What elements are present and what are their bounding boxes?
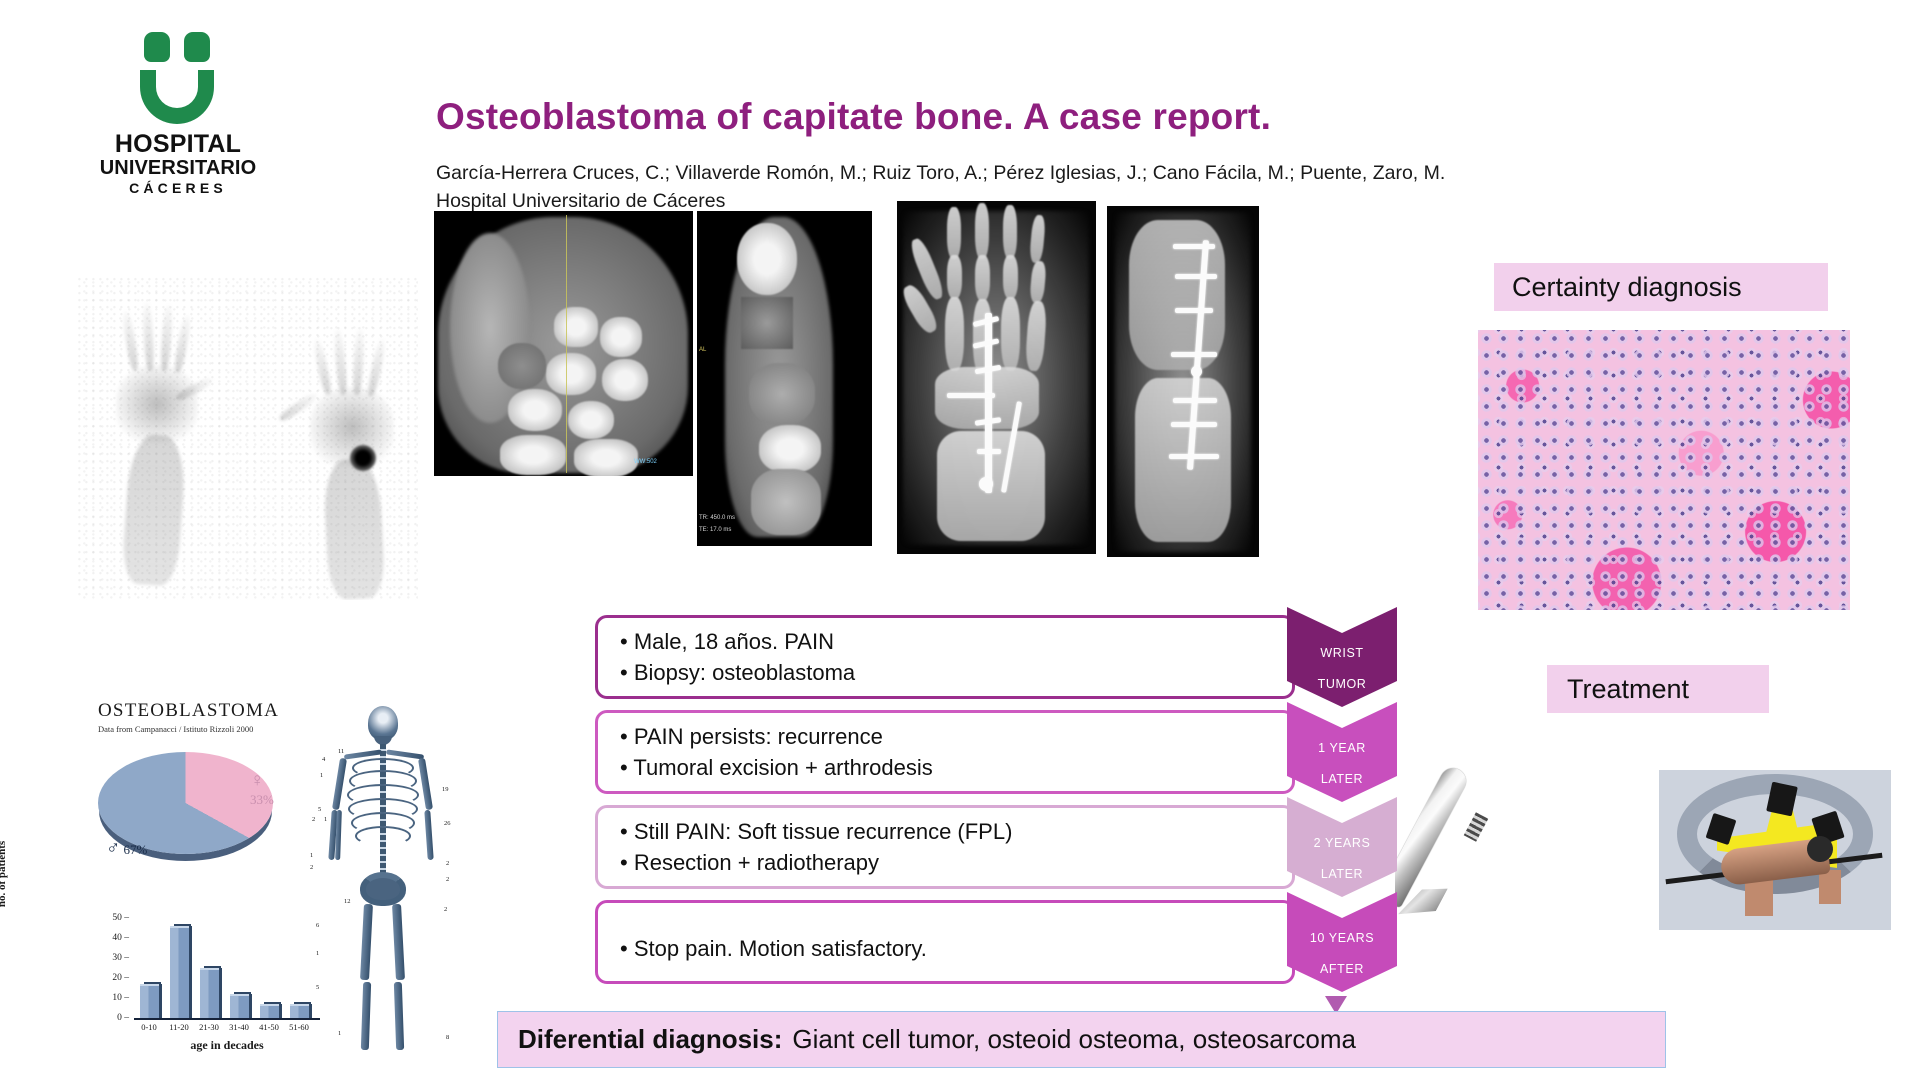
differential-diagnosis-label: Diferential diagnosis: xyxy=(518,1024,782,1055)
logo-dot-left-icon xyxy=(144,32,170,62)
timeline-row-2: • PAIN persists: recurrence • Tumoral ex… xyxy=(595,710,1405,794)
bar-chart-bar xyxy=(140,984,159,1018)
bar-chart-plot: 0 –10 –20 –30 –40 –50 – xyxy=(134,914,314,1018)
bar-chart-bar xyxy=(200,968,219,1018)
logo-u-shape-icon xyxy=(140,70,214,124)
bar-chart-xtick: 11-20 xyxy=(169,1022,189,1032)
timeline-marker-4-line2: AFTER xyxy=(1310,962,1374,978)
pie-value-male: 67% xyxy=(124,842,148,857)
bar-chart-xtick: 0-10 xyxy=(141,1022,157,1032)
scalpel-image xyxy=(1395,760,1560,940)
xray-ap-image xyxy=(897,201,1096,554)
bar-chart-bar xyxy=(170,926,189,1018)
bar-chart-ytick: 30 – xyxy=(112,953,134,963)
timeline-box-3[interactable]: • Still PAIN: Soft tissue recurrence (FP… xyxy=(595,805,1295,889)
authors-line: García-Herrera Cruces, C.; Villaverde Ro… xyxy=(436,160,1496,188)
radiotherapy-image xyxy=(1659,770,1891,930)
logo-line-hospital: HOSPITAL xyxy=(115,131,241,157)
xray-lateral-image xyxy=(1107,206,1259,557)
bar-chart-ylabel: no. of patients xyxy=(0,824,8,924)
mri-coronal-image: WW:502 xyxy=(434,211,693,476)
histology-cell-texture xyxy=(1478,330,1850,610)
certainty-diagnosis-label: Certainty diagnosis xyxy=(1494,263,1828,311)
bar-chart-ytick: 10 – xyxy=(112,993,134,1003)
bar-chart-ytick: 0 – xyxy=(117,1013,134,1023)
timeline-line-1b: • Biopsy: osteoblastoma xyxy=(620,657,1270,688)
timeline-row-1: • Male, 18 años. PAIN • Biopsy: osteobla… xyxy=(595,615,1405,699)
bar-chart-xtick: 21-30 xyxy=(199,1022,219,1032)
poster-canvas: HOSPITAL UNIVERSITARIO CÁCERES Osteoblas… xyxy=(0,0,1920,1080)
timeline-marker-1-line1: WRIST xyxy=(1318,646,1367,662)
timeline-marker-2-line1: 1 YEAR xyxy=(1318,741,1366,757)
pie-label-male: ♂ 67% xyxy=(106,838,147,860)
skeleton-diagram: 4 11 1 5 2 1 1 2 19 26 2 2 2 12 6 1 5 8 … xyxy=(300,700,460,1060)
timeline-line-2b: • Tumoral excision + arthrodesis xyxy=(620,752,1270,783)
hospital-logo: HOSPITAL UNIVERSITARIO CÁCERES xyxy=(88,32,268,197)
pie-chart-plot: ♂ 67% ♀ 33% xyxy=(98,752,278,862)
differential-diagnosis-items: Giant cell tumor, osteoid osteoma, osteo… xyxy=(792,1024,1356,1055)
mri-marker-tag: AL xyxy=(699,347,706,353)
timeline-box-4[interactable]: • Stop pain. Motion satisfactory. xyxy=(595,900,1295,984)
timeline-marker-4-line1: 10 YEARS xyxy=(1310,931,1374,947)
timeline-line-3a: • Still PAIN: Soft tissue recurrence (FP… xyxy=(620,816,1270,847)
timeline-marker-4: 10 YEARS AFTER xyxy=(1287,892,1397,992)
skull-icon xyxy=(368,706,398,740)
scalpel-handle-icon xyxy=(1395,764,1471,909)
timeline-marker-2: 1 YEAR LATER xyxy=(1287,702,1397,802)
timeline-box-1[interactable]: • Male, 18 años. PAIN • Biopsy: osteobla… xyxy=(595,615,1295,699)
logo-dot-right-icon xyxy=(184,32,210,62)
bar-chart-bar xyxy=(260,1004,279,1018)
timeline-line-4a: • Stop pain. Motion satisfactory. xyxy=(620,933,1270,964)
timeline-row-3: • Still PAIN: Soft tissue recurrence (FP… xyxy=(595,805,1405,889)
treatment-label: Treatment xyxy=(1547,665,1769,713)
smiley-u-logo-icon xyxy=(130,32,226,123)
bar-chart-ytick: 50 – xyxy=(112,913,134,923)
pie-value-female: 33% xyxy=(250,792,274,807)
pie-label-female: ♀ 33% xyxy=(250,770,278,808)
bar-chart-ytick: 40 – xyxy=(112,933,134,943)
bar-chart-bar xyxy=(230,994,249,1018)
timeline-marker-3-line1: 2 YEARS xyxy=(1314,836,1371,852)
timeline-row-4: • Stop pain. Motion satisfactory. 10 YEA… xyxy=(595,900,1405,984)
timeline-line-1a: • Male, 18 años. PAIN xyxy=(620,626,1270,657)
differential-diagnosis-bar: Diferential diagnosis: Giant cell tumor,… xyxy=(497,1011,1666,1068)
mri-sagittal-image: AL TR: 450.0 ms TE: 17.0 ms xyxy=(697,211,872,546)
mri-window-tag: WW:502 xyxy=(634,459,657,465)
age-distribution-bar-chart: no. of patients 0 –10 –20 –30 –40 –50 – … xyxy=(100,908,330,1058)
timeline-line-3b: • Resection + radiotherapy xyxy=(620,847,1270,878)
scalpel-grip-icon xyxy=(1464,812,1489,842)
logo-line-caceres: CÁCERES xyxy=(129,179,227,197)
timeline-marker-1: WRIST TUMOR xyxy=(1287,607,1397,707)
histology-image xyxy=(1478,330,1850,610)
bar-chart-xtick: 41-50 xyxy=(259,1022,279,1032)
bar-chart-xtick: 31-40 xyxy=(229,1022,249,1032)
bar-chart-xlabel: age in decades xyxy=(134,1038,320,1053)
timeline-marker-2-line2: LATER xyxy=(1318,772,1366,788)
page-title: Osteoblastoma of capitate bone. A case r… xyxy=(436,96,1456,138)
scan-hotspot-marker xyxy=(350,445,376,471)
mri-tr-tag: TR: 450.0 ms xyxy=(699,515,735,521)
logo-line-universitario: UNIVERSITARIO xyxy=(100,157,257,179)
timeline-line-2a: • PAIN persists: recurrence xyxy=(620,721,1270,752)
bar-chart-ytick: 20 – xyxy=(112,973,134,983)
bar-chart-x-axis xyxy=(134,1018,320,1020)
male-symbol-icon: ♂ xyxy=(106,838,120,859)
timeline-marker-1-line2: TUMOR xyxy=(1318,677,1367,693)
timeline-marker-3-line2: LATER xyxy=(1314,867,1371,883)
pelvis-icon xyxy=(360,872,406,906)
mri-te-tag: TE: 17.0 ms xyxy=(699,527,731,533)
female-symbol-icon: ♀ xyxy=(250,770,264,791)
timeline-marker-3: 2 YEARS LATER xyxy=(1287,797,1397,897)
bone-scan-image xyxy=(78,277,418,600)
timeline-box-2[interactable]: • PAIN persists: recurrence • Tumoral ex… xyxy=(595,710,1295,794)
